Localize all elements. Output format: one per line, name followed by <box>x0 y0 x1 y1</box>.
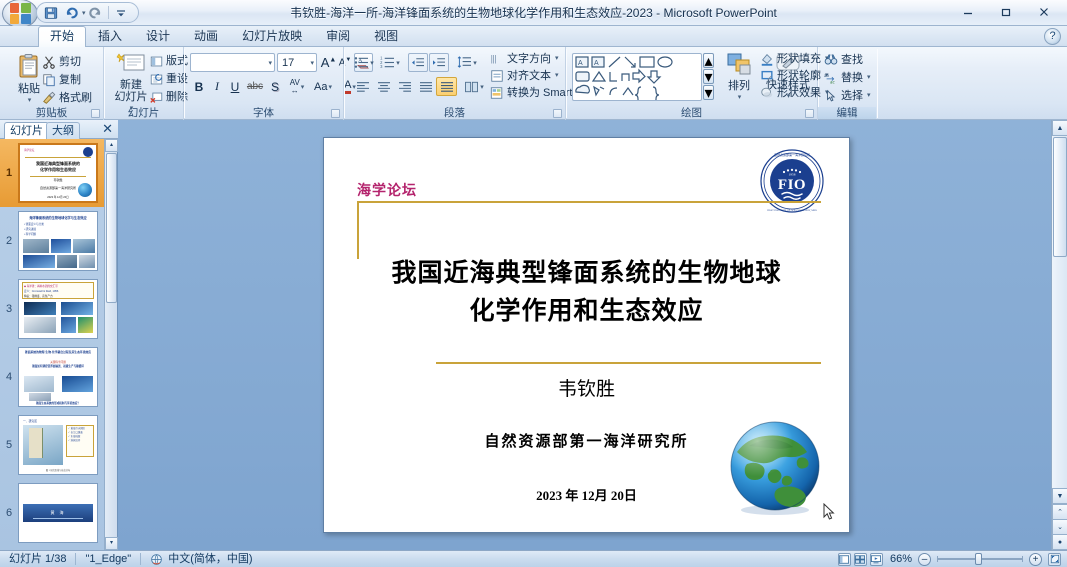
next-slide-button[interactable]: ⌄ <box>1052 519 1067 535</box>
pane-scroll-up-icon[interactable]: ▴ <box>105 139 118 152</box>
shape-outline-button[interactable]: 形状轮廓 ▾ <box>760 69 818 83</box>
font-name-combo[interactable]: ▾ <box>190 53 275 72</box>
grow-font-button[interactable]: A▲ <box>320 53 337 72</box>
close-button[interactable] <box>1025 1 1063 23</box>
drawing-group-label: 绘图 <box>566 107 817 119</box>
arrange-label: 排列 <box>728 80 750 92</box>
change-case-icon: Aa <box>314 81 327 93</box>
font-dialog-launcher[interactable] <box>331 109 340 118</box>
font-size-value: 17 <box>280 57 309 69</box>
text-direction-label: 文字方向 <box>507 52 551 66</box>
bold-button[interactable]: B <box>190 77 208 96</box>
paste-dropdown-arrow[interactable]: ▾ <box>28 95 32 107</box>
clipboard-group-label: 剪贴板 <box>0 107 103 119</box>
shape-fill-icon <box>760 52 774 66</box>
numbering-button[interactable]: 1 2 3 ▾ <box>378 53 402 72</box>
current-slide[interactable]: 海学论坛 1958 FIO <box>323 137 850 533</box>
change-case-button[interactable]: Aa ▾ <box>310 77 336 96</box>
italic-icon: I <box>215 79 219 94</box>
text-direction-dropdown-arrow[interactable]: ▾ <box>555 52 559 66</box>
svg-text:A: A <box>578 60 583 67</box>
slide-canvas-area: 海学论坛 1958 FIO <box>118 120 1051 535</box>
slide-author: 韦钦胜 <box>324 374 849 401</box>
language-label: 中文(简体，中国) <box>168 551 252 567</box>
align-center-button[interactable] <box>373 77 394 96</box>
view-slide-sorter-button[interactable] <box>854 553 867 566</box>
tab-slideshow[interactable]: 幻灯片放映 <box>230 26 314 47</box>
tab-design[interactable]: 设计 <box>134 26 182 47</box>
pane-tab-outline[interactable]: 大纲 <box>46 122 80 140</box>
slideshow-icon <box>871 555 881 564</box>
select-label: 选择 <box>841 89 863 103</box>
restore-icon <box>1000 6 1012 18</box>
view-normal-button[interactable] <box>838 553 851 566</box>
shapes-gallery[interactable]: A A <box>572 53 702 101</box>
svg-text:|||: ||| <box>491 54 497 65</box>
format-painter-label: 格式刷 <box>59 91 92 105</box>
cut-label: 剪切 <box>59 55 81 69</box>
numbering-dropdown-arrow[interactable]: ▾ <box>396 59 400 67</box>
thumbnail-number: 5 <box>0 439 18 451</box>
font-size-combo[interactable]: 17 ▾ <box>277 53 317 72</box>
close-icon <box>1038 6 1050 18</box>
slide-thumbnail-1[interactable]: 1 海学论坛 我国近海典型锋面系统的化学作用和生态效应 韦钦胜 自然资源部第一海… <box>0 139 105 207</box>
decrease-indent-button[interactable] <box>408 53 428 72</box>
delete-icon <box>150 91 163 104</box>
customize-quick-access-button[interactable] <box>111 4 131 21</box>
slide-pane-scrollbar[interactable]: ▴ ▾ <box>104 139 117 550</box>
text-direction-button[interactable]: ||| 文字方向 ▾ <box>490 52 559 66</box>
distribute-button[interactable] <box>436 77 457 96</box>
clipboard-dialog-launcher[interactable] <box>91 109 100 118</box>
format-painter-button[interactable]: 格式刷 <box>42 91 92 105</box>
columns-dropdown-arrow[interactable]: ▾ <box>480 83 484 91</box>
thumbnail-preview: 海学论坛 我国近海典型锋面系统的化学作用和生态效应 韦钦胜 自然资源部第一海洋研… <box>18 143 98 203</box>
select-pointer-icon <box>824 89 838 103</box>
slide-thumbnail-2[interactable]: 2 海洋锋面系统的生物地球化学与生态效应 • 锋面定义与分类 • 研究进展 • … <box>0 207 105 275</box>
bullets-icon <box>354 56 369 69</box>
arrange-button[interactable]: 排列 ▾ <box>719 52 759 104</box>
scroll-down-button[interactable]: ▼ <box>1052 488 1067 504</box>
slide-sorter-icon <box>855 555 865 564</box>
layout-icon <box>150 55 163 68</box>
thumbnail-number: 1 <box>0 167 18 179</box>
group-slides: 新建 幻灯片 ▾ 版式 ▾ 重设 <box>104 47 184 120</box>
powerpoint-window: ▾ 韦钦胜-海洋一所-海洋锋面系统的生物地球化学作用和生态效应-2023 - M… <box>0 0 1067 567</box>
reset-icon <box>150 73 163 86</box>
gold-divider-line <box>436 362 821 364</box>
save-icon <box>44 6 58 20</box>
svg-text:自然资源部第一海洋研究所: 自然资源部第一海洋研究所 <box>774 152 810 157</box>
replace-dropdown-arrow[interactable]: ▾ <box>867 71 871 85</box>
cursor-arrow-icon <box>823 503 835 521</box>
scissors-icon <box>42 55 56 69</box>
slide-pane-tabs: 幻灯片 大纲 ✕ <box>0 120 118 139</box>
shapes-gallery-icons: A A <box>573 54 701 100</box>
justify-icon <box>419 81 433 93</box>
text-direction-icon: ||| <box>490 52 504 66</box>
line-spacing-button[interactable]: ▾ <box>454 53 480 72</box>
increase-indent-button[interactable] <box>429 53 449 72</box>
strikethrough-button[interactable]: abc <box>244 77 266 96</box>
pane-scroll-down-icon[interactable]: ▾ <box>105 537 118 550</box>
ribbon: 粘贴 ▾ 剪切 复制 <box>0 47 1067 120</box>
pane-close-button[interactable]: ✕ <box>102 122 113 136</box>
slide-thumbnail-3[interactable]: 3 ◆ 海洋锋：两种水团的交汇带 定义：Cromwell & Reid, 195… <box>0 275 105 343</box>
grow-font-icon: A▲ <box>321 55 337 70</box>
shadow-icon: S <box>271 80 279 94</box>
paragraph-group-label: 段落 <box>344 107 565 119</box>
replace-label: 替换 <box>841 71 863 85</box>
tab-animations[interactable]: 动画 <box>182 26 230 47</box>
slide-counter[interactable]: 幻灯片 1/38 <box>0 551 75 567</box>
language-indicator[interactable]: 中文(简体，中国) <box>141 551 261 567</box>
slide-title-line-2: 化学作用和生态效应 <box>344 292 829 330</box>
fit-to-window-button[interactable] <box>1048 553 1061 566</box>
align-left-button[interactable] <box>352 77 373 96</box>
group-clipboard: 粘贴 ▾ 剪切 复制 <box>0 47 104 120</box>
tab-view[interactable]: 视图 <box>362 26 410 47</box>
cut-button[interactable]: 剪切 <box>42 55 81 69</box>
window-controls <box>949 1 1063 23</box>
slide-title-line-1: 我国近海典型锋面系统的生物地球 <box>344 254 829 292</box>
toolbar-divider <box>108 6 109 19</box>
help-button[interactable]: ? <box>1044 28 1061 45</box>
forum-label: 海学论坛 <box>357 180 417 200</box>
select-dropdown-arrow[interactable]: ▾ <box>867 89 871 103</box>
customize-icon <box>116 8 126 18</box>
quick-access-toolbar: ▾ <box>36 2 139 23</box>
increase-indent-icon <box>432 57 446 69</box>
paste-label: 粘贴 <box>18 83 40 95</box>
columns-icon <box>464 81 479 93</box>
minimize-icon <box>962 6 974 18</box>
shapes-scroll-buttons[interactable]: ▴ ▾ ▾ <box>703 53 714 101</box>
italic-button[interactable]: I <box>208 77 226 96</box>
align-center-icon <box>377 81 391 93</box>
copy-icon <box>42 73 56 87</box>
paragraph-dialog-launcher[interactable] <box>553 109 562 118</box>
copy-label: 复制 <box>59 73 81 87</box>
theme-name[interactable]: "1_Edge" <box>76 551 140 567</box>
font-size-dropdown-arrow[interactable]: ▾ <box>310 59 314 67</box>
undo-button[interactable] <box>61 4 81 21</box>
new-slide-label-line2: 幻灯片 <box>115 91 148 103</box>
drawing-dialog-launcher[interactable] <box>805 109 814 118</box>
shape-fill-button[interactable]: 形状填充 ▾ <box>760 52 818 66</box>
thumbnail-number: 6 <box>0 507 18 519</box>
window-title: 韦钦胜-海洋一所-海洋锋面系统的生物地球化学作用和生态效应-2023 - Mic… <box>0 0 1067 26</box>
shape-effects-icon <box>760 86 774 100</box>
shapes-more-icon[interactable]: ▾ <box>703 85 714 100</box>
delete-slide-button[interactable]: 删除 <box>150 90 188 104</box>
replace-button[interactable]: ab ac 替换 ▾ <box>824 71 871 85</box>
change-case-dropdown-arrow[interactable]: ▾ <box>328 83 332 91</box>
fit-to-window-icon <box>1050 554 1060 564</box>
find-button[interactable]: 查找 <box>824 53 863 67</box>
bullets-button[interactable]: ▾ <box>352 53 376 72</box>
columns-button[interactable]: ▾ <box>461 77 487 96</box>
select-browse-object-button[interactable]: ● <box>1052 534 1067 550</box>
text-shadow-button[interactable]: S <box>266 77 284 96</box>
char-spacing-icon: AV↔ <box>290 79 300 95</box>
char-spacing-dropdown-arrow[interactable]: ▾ <box>301 83 305 91</box>
work-area: 幻灯片 大纲 ✕ 1 海学论坛 我国近海典型锋面系统的化学作用和生态效应 韦钦胜… <box>0 120 1067 550</box>
thumbnail-preview: 黄 海 <box>18 483 98 543</box>
align-right-button[interactable] <box>394 77 415 96</box>
bullets-dropdown-arrow[interactable]: ▾ <box>370 59 374 67</box>
pane-scroll-thumb[interactable] <box>106 153 117 303</box>
character-spacing-button[interactable]: AV↔ ▾ <box>284 77 310 96</box>
globe-image <box>719 418 831 518</box>
zoom-out-button[interactable]: – <box>918 553 931 566</box>
office-logo-icon <box>10 3 31 24</box>
view-slideshow-button[interactable] <box>870 553 883 566</box>
group-font: ▾ 17 ▾ A▲ A▼ A B I <box>184 47 344 120</box>
line-spacing-icon <box>457 56 472 69</box>
zoom-slider-knob[interactable] <box>975 553 982 565</box>
previous-slide-button[interactable]: ⌃ <box>1052 504 1067 520</box>
align-text-icon <box>490 69 504 83</box>
font-name-dropdown-arrow[interactable]: ▾ <box>268 59 272 67</box>
slides-group-label: 幻灯片 <box>104 107 183 119</box>
arrange-dropdown-arrow[interactable]: ▾ <box>738 92 742 104</box>
svg-text:A: A <box>594 60 599 67</box>
zoom-slider[interactable] <box>937 553 1023 565</box>
shape-outline-icon <box>760 69 774 83</box>
earth-globe-icon <box>719 418 831 518</box>
ribbon-tabs: 开始 插入 设计 动画 幻灯片放映 审阅 视图 <box>38 26 410 47</box>
arrange-icon <box>724 52 754 78</box>
group-editing: 查找 ab ac 替换 ▾ 选择 ▾ 编辑 <box>818 47 876 120</box>
redo-button[interactable] <box>86 4 106 21</box>
tab-review[interactable]: 审阅 <box>314 26 362 47</box>
zoom-tick <box>1022 556 1023 562</box>
align-text-dropdown-arrow[interactable]: ▾ <box>555 69 559 83</box>
minimize-button[interactable] <box>949 1 987 23</box>
ribbon-tab-strip: 开始 插入 设计 动画 幻灯片放映 审阅 视图 ? <box>0 26 1067 47</box>
strikethrough-icon: abc <box>247 81 263 92</box>
svg-text:3: 3 <box>380 64 383 69</box>
thumbnail-preview: 锋面系统的物理-生物-化学耦合过程及其生态环境效应 关键科学问题 锋面如何调控营… <box>18 347 98 407</box>
group-paragraph: ▾ 1 2 3 ▾ <box>344 47 566 120</box>
bold-icon: B <box>195 80 204 94</box>
decrease-indent-icon <box>411 57 425 69</box>
title-bar: ▾ 韦钦胜-海洋一所-海洋锋面系统的生物地球化学作用和生态效应-2023 - M… <box>0 0 1067 26</box>
thumbnail-number: 4 <box>0 371 18 383</box>
gold-bracket-decoration <box>357 201 821 259</box>
copy-button[interactable]: 复制 <box>42 73 81 87</box>
align-left-icon <box>356 81 370 93</box>
office-button[interactable] <box>2 0 38 28</box>
slide-title: 我国近海典型锋面系统的生物地球 化学作用和生态效应 <box>344 254 829 330</box>
language-globe-icon <box>150 553 163 566</box>
zoom-in-button[interactable]: + <box>1029 553 1042 566</box>
normal-view-icon <box>839 555 849 564</box>
slide-thumbnail-5[interactable]: 5 一、研究区 ✓ 黄海冷水团区✓ 长江口锋面✓ 东海陆架✓ 浙闽沿岸 图 1 … <box>0 411 105 479</box>
svg-text:ab: ab <box>824 73 829 79</box>
align-text-button[interactable]: 对齐文本 ▾ <box>490 69 559 83</box>
new-slide-button[interactable]: 新建 幻灯片 ▾ <box>108 52 154 115</box>
redo-icon <box>88 6 103 20</box>
scroll-thumb[interactable] <box>1053 137 1067 257</box>
thumbnail-preview: 海洋锋面系统的生物地球化学与生态效应 • 锋面定义与分类 • 研究进展 • 科学… <box>18 211 98 271</box>
new-slide-icon <box>116 52 146 78</box>
thumbnail-number: 3 <box>0 303 18 315</box>
editing-group-label: 编辑 <box>818 107 876 119</box>
underline-button[interactable]: U <box>226 77 244 96</box>
find-label: 查找 <box>841 53 863 67</box>
new-slide-label-line1: 新建 <box>120 79 142 91</box>
binoculars-icon <box>824 53 838 67</box>
smartart-icon <box>490 86 504 100</box>
slide-thumbnail-6[interactable]: 6 黄 海 <box>0 479 105 547</box>
reset-button[interactable]: 重设 <box>150 72 188 86</box>
select-button[interactable]: 选择 ▾ <box>824 89 871 103</box>
align-text-label: 对齐文本 <box>507 69 551 83</box>
tab-home[interactable]: 开始 <box>38 26 86 47</box>
line-spacing-dropdown-arrow[interactable]: ▾ <box>473 59 477 67</box>
paintbrush-icon <box>42 91 56 105</box>
shape-outline-label: 形状轮廓 <box>777 69 821 83</box>
slide-thumbnail-list[interactable]: 1 海学论坛 我国近海典型锋面系统的化学作用和生态效应 韦钦胜 自然资源部第一海… <box>0 139 105 550</box>
zoom-level[interactable]: 66% <box>890 551 918 567</box>
underline-icon: U <box>231 80 240 94</box>
shape-effects-button[interactable]: 形状效果 ▾ <box>760 86 818 100</box>
status-bar: 幻灯片 1/38 "1_Edge" 中文(简体，中国) <box>0 550 1067 567</box>
undo-icon <box>64 6 79 20</box>
slide-thumbnail-4[interactable]: 4 锋面系统的物理-生物-化学耦合过程及其生态环境效应 关键科学问题 锋面如何调… <box>0 343 105 411</box>
align-right-icon <box>398 81 412 93</box>
canvas-vertical-scrollbar[interactable]: ▲ ▼ ⌃ ⌄ ● <box>1051 120 1067 550</box>
shape-fill-label: 形状填充 <box>777 52 821 66</box>
thumbnail-preview: 一、研究区 ✓ 黄海冷水团区✓ 长江口锋面✓ 东海陆架✓ 浙闽沿岸 图 1 研究… <box>18 415 98 475</box>
justify-button[interactable] <box>415 77 436 96</box>
slide-pane: 幻灯片 大纲 ✕ 1 海学论坛 我国近海典型锋面系统的化学作用和生态效应 韦钦胜… <box>0 120 118 550</box>
svg-text:1958: 1958 <box>789 173 796 177</box>
shape-format-column: 形状填充 ▾ 形状轮廓 ▾ 形状效果 ▾ <box>760 52 818 100</box>
shape-effects-label: 形状效果 <box>777 86 821 100</box>
zoom-tick <box>937 556 938 562</box>
replace-icon: ab ac <box>824 71 838 85</box>
thumbnail-number: 2 <box>0 235 18 247</box>
paste-icon <box>15 53 43 81</box>
pane-tab-slides[interactable]: 幻灯片 <box>4 122 49 140</box>
mouse-cursor <box>823 503 835 521</box>
tab-insert[interactable]: 插入 <box>86 26 134 47</box>
font-group-label: 字体 <box>184 107 343 119</box>
save-button[interactable] <box>41 4 61 21</box>
svg-text:FIO: FIO <box>778 177 806 193</box>
numbering-icon: 1 2 3 <box>380 56 395 69</box>
distribute-icon <box>440 81 454 93</box>
restore-button[interactable] <box>987 1 1025 23</box>
thumbnail-preview: ◆ 海洋锋：两种水团的交汇带 定义：Cromwell & Reid, 1956 … <box>18 279 98 339</box>
scroll-up-button[interactable]: ▲ <box>1052 120 1067 136</box>
